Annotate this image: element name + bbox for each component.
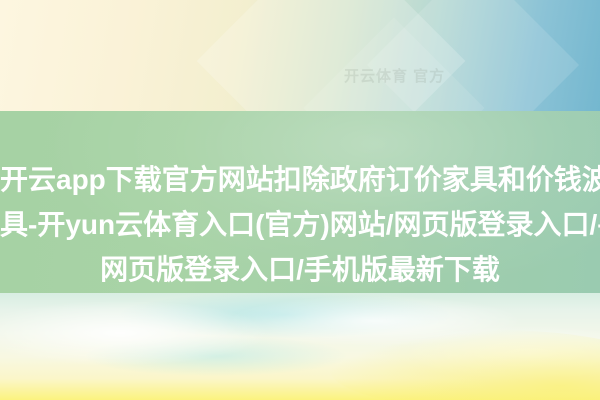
promo-banner: 开云体育 官方 开云app下载官方网站扣除政府订价家具和价钱波 具-开yun云体… [0,0,600,400]
green-band [0,111,600,293]
sky-gradient-band [0,293,600,400]
top-gradient-band [0,0,600,111]
